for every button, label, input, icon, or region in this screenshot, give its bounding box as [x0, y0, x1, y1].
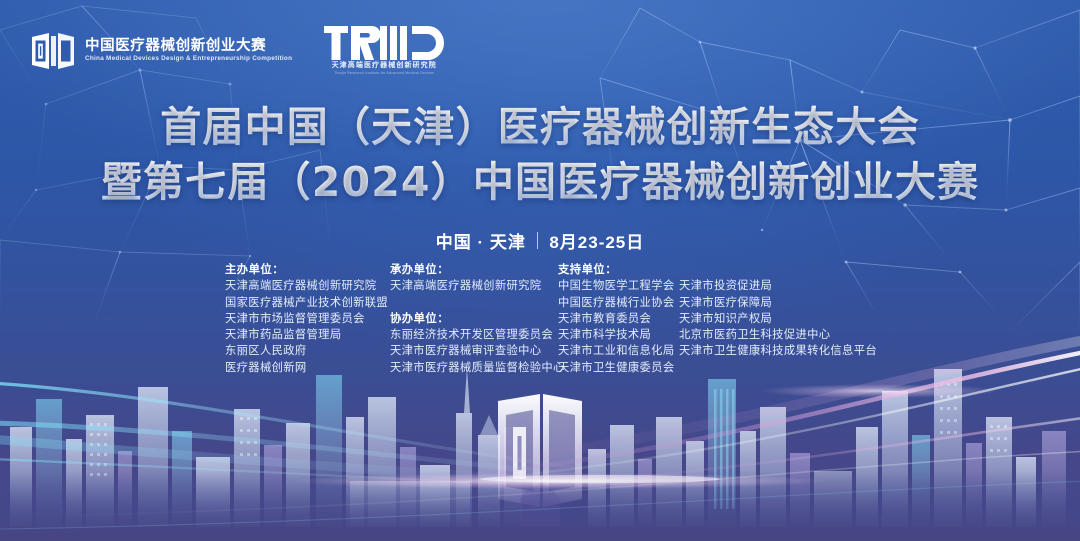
supporter-item: 天津市卫生健康科技成果转化信息平台	[679, 343, 877, 359]
organizers-column-organizer: 承办单位： 天津高端医疗器械创新研究院 协办单位： 东丽经济技术开发区管理委员会…	[390, 262, 558, 376]
supporter-item: 天津市知识产权局	[679, 311, 877, 327]
host-item: 国家医疗器械产业技术创新联盟	[225, 295, 390, 311]
supporter-item: 天津市工业和信息化局	[558, 343, 679, 359]
institute-logo-cn: 天津高端医疗器械创新研究院	[332, 62, 437, 69]
institute-logo-en: Tianjin Research Institute for Advanced …	[334, 72, 434, 76]
competition-logo-cn: 中国医疗器械创新创业大赛	[85, 39, 292, 54]
organizers-block: 主办单位： 天津高端医疗器械创新研究院 国家医疗器械产业技术创新联盟 天津市市场…	[225, 262, 877, 376]
supporter-item: 北京市医药卫生科技促进中心	[679, 327, 877, 343]
event-meta: 中国 · 天津 8月23-25日	[0, 228, 1080, 253]
competition-logo-en: China Medical Devices Design & Entrepren…	[85, 56, 292, 63]
host-heading: 主办单位：	[225, 262, 390, 278]
host-item: 医疗器械创新网	[225, 360, 390, 376]
host-item: 天津高端医疗器械创新研究院	[225, 278, 390, 294]
poster-title: 首届中国（天津）医疗器械创新生态大会 暨第七届（2024）中国医疗器械创新创业大…	[0, 100, 1080, 210]
supporter-item: 天津市卫生健康委员会	[558, 360, 679, 376]
center-emblem	[498, 394, 582, 527]
co-organizer-heading: 协办单位：	[390, 311, 558, 327]
organizer-heading: 承办单位：	[390, 262, 558, 278]
event-poster: 中国医疗器械创新创业大赛 China Medical Devices Desig…	[0, 0, 1080, 541]
column-spacer	[390, 295, 558, 311]
host-item: 东丽区人民政府	[225, 343, 390, 359]
event-date: 8月23-25日	[549, 228, 644, 253]
co-organizer-item: 东丽经济技术开发区管理委员会	[390, 327, 558, 343]
supporter-item: 天津市医疗保障局	[679, 295, 877, 311]
triid-wordmark-icon	[324, 26, 444, 60]
competition-logo: 中国医疗器械创新创业大赛 China Medical Devices Desig…	[30, 29, 292, 73]
co-organizer-item: 天津市医疗器械质量监督检验中心	[390, 360, 558, 376]
header-logo-row: 中国医疗器械创新创业大赛 China Medical Devices Desig…	[30, 26, 444, 76]
organizers-column-supporter-overflow: 天津市投资促进局 天津市医疗保障局 天津市知识产权局 北京市医药卫生科技促进中心…	[679, 262, 877, 360]
city-skyline-silhouette	[10, 367, 1066, 527]
organizer-item: 天津高端医疗器械创新研究院	[390, 278, 558, 294]
co-organizer-item: 天津市医疗器械审评查验中心	[390, 343, 558, 359]
organizers-column-host: 主办单位： 天津高端医疗器械创新研究院 国家医疗器械产业技术创新联盟 天津市市场…	[225, 262, 390, 376]
supporter-item: 天津市教育委员会	[558, 311, 679, 327]
open-book-door-logo-icon	[30, 29, 76, 73]
title-line-2: 暨第七届（2024）中国医疗器械创新创业大赛	[0, 155, 1080, 210]
host-item: 天津市市场监督管理委员会	[225, 311, 390, 327]
title-line-1: 首届中国（天津）医疗器械创新生态大会	[0, 100, 1080, 155]
supporter-item: 中国生物医学工程学会	[558, 278, 679, 294]
supporter-heading: 支持单位：	[558, 262, 679, 278]
supporter-item: 天津市投资促进局	[679, 278, 877, 294]
supporter-item: 天津市科学技术局	[558, 327, 679, 343]
meta-separator	[537, 232, 539, 249]
supporter-item: 中国医疗器械行业协会	[558, 295, 679, 311]
host-item: 天津市药品监督管理局	[225, 327, 390, 343]
organizers-column-supporter: 支持单位： 中国生物医学工程学会 中国医疗器械行业协会 天津市教育委员会 天津市…	[558, 262, 679, 376]
institute-logo: 天津高端医疗器械创新研究院 Tianjin Research Institute…	[324, 26, 444, 76]
event-location: 中国 · 天津	[436, 228, 526, 253]
